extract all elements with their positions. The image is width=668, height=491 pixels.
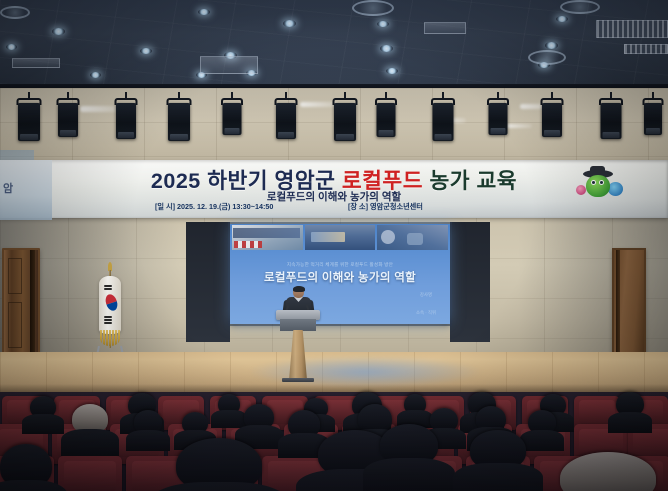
door-panel-upper (8, 258, 22, 294)
wall-reflection (506, 124, 532, 128)
downlight (283, 20, 296, 27)
fixture-lens (378, 130, 393, 136)
projection-screen: 지속가능한 먹거리 체계를 위한 로컬푸드 활성화 방안 로컬푸드의 이해와 농… (230, 224, 450, 324)
downlight (380, 45, 393, 52)
flag-cloth (99, 276, 121, 334)
fixture-lens (602, 132, 619, 138)
downlight (377, 21, 389, 27)
ceiling-vent (424, 22, 466, 34)
audience-member-shoulders (453, 463, 543, 491)
downlight (556, 16, 568, 22)
fixture-lens (170, 134, 188, 140)
auditorium-photograph: 2025 하반기 영암군 로컬푸드 농가 교육 로컬푸드의 이해와 농가의 역할… (0, 0, 668, 491)
mascot-eye-left (591, 180, 596, 185)
trigram-mark (104, 319, 112, 321)
slide-byline: 강사명 (420, 292, 432, 298)
podium-column (289, 330, 307, 380)
trigram-mark (104, 316, 112, 318)
stage-light-fixture (168, 92, 190, 142)
slide-title: 로컬푸드의 이해와 농가의 역할 (230, 269, 450, 285)
ceiling-ring-light (0, 6, 30, 19)
slide-photo-3 (377, 225, 448, 250)
fixture-lens (336, 134, 354, 140)
trigram-mark (104, 288, 112, 290)
downlight (140, 48, 152, 54)
fixture-lens (490, 128, 505, 134)
podium-face (280, 319, 316, 331)
door-edge (616, 250, 620, 358)
fixture-lens (434, 134, 451, 140)
trigram-mark (104, 285, 112, 287)
audience-member-shoulders (126, 430, 171, 452)
korean-flag (88, 262, 134, 362)
trigram-mark (104, 322, 112, 324)
mascot-side-blue (608, 182, 623, 196)
stage-light-fixture (334, 92, 356, 142)
door-left[interactable] (2, 248, 40, 358)
side-banner: 암 (0, 160, 52, 220)
mascot-side-pink (576, 185, 586, 195)
stage-light-fixture (432, 92, 453, 142)
podium-base (282, 378, 314, 382)
fixture-lens (646, 128, 660, 134)
fixture-lens (278, 132, 294, 138)
banner-subtitle: 로컬푸드의 이해와 농가의 역할 (0, 189, 668, 204)
stage-light-fixture (376, 92, 395, 138)
fixture-lens (224, 128, 239, 134)
audience-member-shoulders (61, 429, 119, 456)
ceiling-ring-light (528, 50, 566, 65)
stage-light-fixture (644, 92, 662, 136)
ceiling (0, 0, 668, 84)
downlight (198, 9, 210, 15)
door-panel-lower (8, 302, 22, 348)
side-banner-text: 암 (3, 180, 13, 196)
event-banner: 2025 하반기 영암군 로컬푸드 농가 교육 로컬푸드의 이해와 농가의 역할… (0, 160, 668, 218)
audience-member-shoulders (608, 412, 653, 434)
audience-member-shoulders (363, 458, 456, 491)
acoustic-panel-right (450, 222, 490, 342)
ceiling-ring-light (560, 0, 600, 14)
fixture-lens (20, 134, 38, 140)
stage-light-fixture (222, 92, 241, 136)
downlight (90, 72, 101, 78)
slide-byline-affiliation: 소속 · 직위 (416, 310, 436, 316)
mascot-body (586, 175, 610, 197)
stage-light-fixture (542, 92, 562, 138)
slide-kicker: 지속가능한 먹거리 체계를 위한 로컬푸드 활성화 방안 (230, 262, 450, 268)
slide-photo-2 (305, 225, 376, 250)
fixture-lens (118, 132, 134, 138)
banner-datetime: [일 시] 2025. 12. 19.(금) 13:30~14:50 (155, 202, 273, 212)
acoustic-panel-left (186, 222, 230, 342)
fixture-lens (544, 130, 560, 136)
flag-fringe (100, 330, 120, 346)
auditorium-seat (58, 456, 122, 491)
ceiling-vent (200, 56, 258, 74)
downlight (386, 68, 398, 74)
ceiling-vent (12, 58, 60, 68)
stage-light-fixture (116, 92, 136, 140)
speaker-hair (293, 286, 305, 292)
stage-light-fixture (18, 92, 40, 142)
audience-member-shoulders (22, 414, 64, 434)
stage-light-fixture (488, 92, 507, 136)
mascot-eye-right (599, 180, 604, 185)
banner-venue: [장 소] 영암군청소년센터 (348, 202, 423, 212)
audience-member-shoulders (211, 410, 246, 428)
door-jamb (30, 250, 35, 356)
stage-light-fixture (276, 92, 296, 140)
slide-photo-1 (232, 225, 303, 250)
door-right[interactable] (612, 248, 646, 360)
stage-light-fixture (58, 92, 78, 138)
audience-member-shoulders (520, 430, 565, 452)
ceiling-ring-light (352, 0, 394, 16)
downlight (545, 42, 558, 49)
audience-area (0, 392, 668, 491)
podium (276, 310, 320, 380)
ceiling-louver-vent (624, 44, 668, 54)
stage-light-fixture (600, 92, 621, 140)
fixture-lens (60, 130, 76, 136)
mascot-logo-icon (572, 166, 632, 206)
taeguk-symbol-icon (104, 293, 120, 313)
slide-photo-strip (232, 225, 448, 250)
ceiling-louver-vent (596, 20, 668, 38)
downlight (6, 44, 17, 50)
downlight (52, 28, 65, 35)
